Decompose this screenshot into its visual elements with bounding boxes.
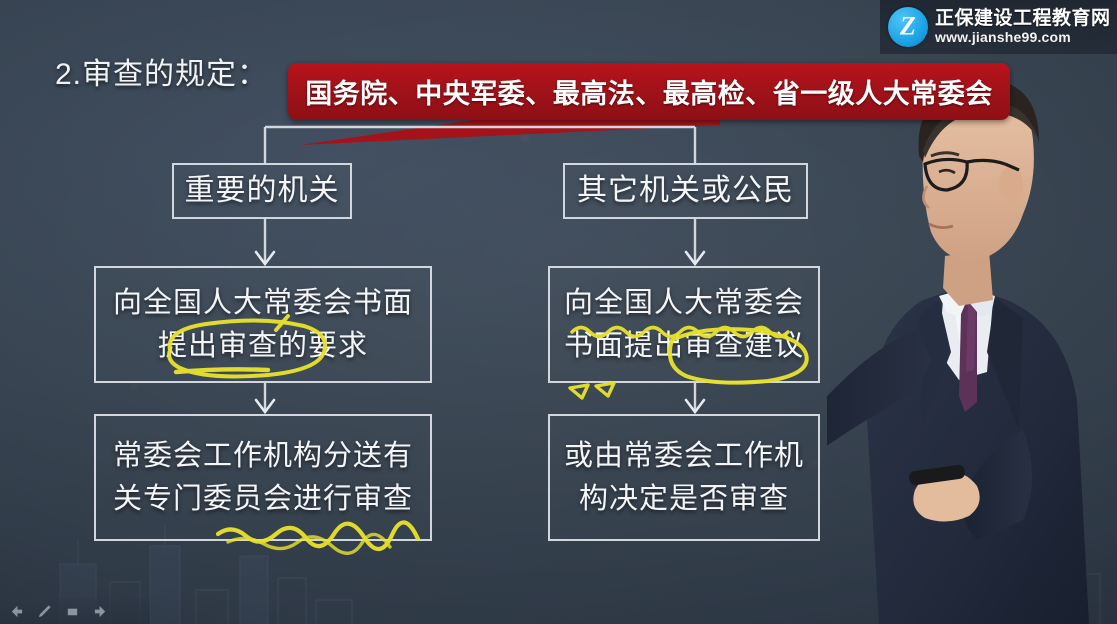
logo-url: www.jianshe99.com bbox=[935, 30, 1111, 45]
pen-icon[interactable] bbox=[37, 604, 52, 619]
ink-annotations bbox=[0, 0, 1117, 624]
slide-screen: 国务院、中央军委、最高法、最高检、省一级人大常委会 2.审查的规定： 重要的 bbox=[0, 0, 1117, 624]
arrow-right-icon[interactable] bbox=[93, 604, 108, 619]
logo-brand-name: 正保建设工程教育网 bbox=[935, 9, 1111, 29]
logo-mark-letter: Z bbox=[888, 13, 928, 39]
logo-text: 正保建设工程教育网 www.jianshe99.com bbox=[935, 9, 1111, 45]
brand-logo: Z 正保建设工程教育网 www.jianshe99.com bbox=[880, 0, 1117, 54]
square-icon[interactable] bbox=[65, 604, 80, 619]
player-toolbar[interactable] bbox=[0, 598, 150, 624]
logo-mark-icon: Z bbox=[888, 7, 928, 47]
arrow-left-icon[interactable] bbox=[9, 604, 24, 619]
